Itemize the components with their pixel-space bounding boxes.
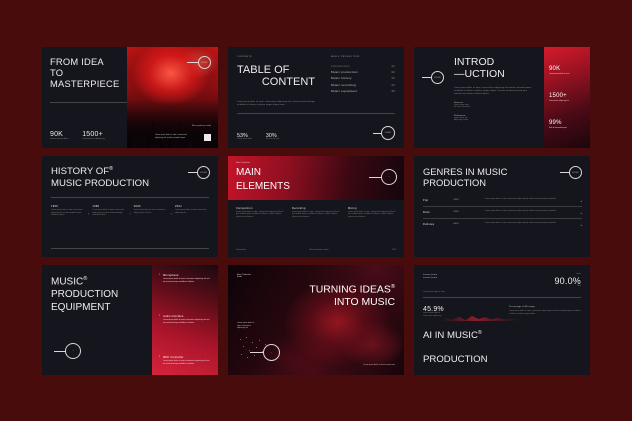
eyebrow: Music Production: [236, 163, 396, 165]
eyebrow-left: Contents: [237, 56, 315, 58]
photo-caption-box: Lorem ipsum dolor sit amet, consectetur …: [152, 131, 214, 144]
equipment-item[interactable]: 1 Microphone Lorem ipsum dolor sit amet …: [159, 274, 211, 284]
stat-caption: Consectetur adipiscing: [82, 138, 104, 141]
title-text: MUSIC: [51, 276, 83, 287]
slide1-title-line2: TO MASTERPIECE: [50, 67, 127, 89]
stat-value: 90K: [50, 131, 68, 138]
slide-table-of-content[interactable]: Contents TABLE OF CONTENT Music producti…: [228, 47, 404, 148]
element-column: Mixing Lorem ipsum dolor sit amet, conse…: [348, 207, 396, 250]
panel-stat: 1500+ Consectetur adipiscing elit: [549, 93, 585, 103]
body-line: adipiscing elit: [237, 328, 395, 330]
slide2-title-line1: TABLE OF: [237, 64, 315, 76]
slide2-bottom: 53% Lorem ipsum dolor 30% Sit amet elit …: [237, 126, 395, 141]
title-text: HISTORY OF: [51, 166, 109, 177]
stat-value: 1500+: [82, 131, 104, 138]
slide3-text-column: INTROD —UCTION Lorem ipsum dolor sit ame…: [452, 57, 538, 140]
logo-mark[interactable]: LOGO: [422, 71, 452, 84]
slide2-title-line2: CONTENT: [237, 76, 315, 88]
genre-row[interactable]: Pop +35% Lorem ipsum dolor sit amet cons…: [423, 195, 582, 207]
stat-item: 53% Lorem ipsum dolor: [237, 133, 252, 141]
stat-caption: Lorem ipsum dolor sit amet: [549, 73, 585, 76]
logo-circle: LOGO: [197, 166, 210, 179]
sub-item: Sit amet consectetur: [454, 107, 538, 109]
slide-ai-in-music-production[interactable]: Lorem ipsum Lorem ipsum Lorem 90.0% Tota…: [414, 265, 590, 375]
column-text: Lorem ipsum dolor sit amet, consectetur …: [236, 212, 284, 219]
genre-rows: Pop +35% Lorem ipsum dolor sit amet cons…: [423, 195, 582, 230]
genre-text: Lorem ipsum dolor sit amet consectetur a…: [485, 199, 572, 201]
toc-number: 03: [392, 77, 395, 80]
item-number: 2: [159, 315, 160, 325]
slide2-stats: 53% Lorem ipsum dolor 30% Sit amet elit …: [237, 133, 279, 141]
slide9-top-row: Lorem ipsum Lorem ipsum Lorem 90.0% Tota…: [423, 274, 581, 289]
slide8-content: Music Production Studio TURNING IDEAS® I…: [228, 265, 404, 375]
slide3-subsection-2: Reference Lorem ipsum elit Adipiscing se…: [454, 115, 538, 123]
left-line: Lorem ipsum: [423, 277, 437, 280]
registered-mark: ®: [83, 276, 87, 282]
slide1-title-line1: FROM IDEA: [50, 56, 127, 67]
equipment-item[interactable]: 3 MIDI Controller Lorem ipsum dolor sit …: [159, 356, 211, 366]
caption-line-2: adipiscing elit sed do eiusmod tempor: [155, 138, 187, 140]
expand-plus-icon[interactable]: +: [572, 223, 582, 227]
slide5-header: Music Production MAIN ELEMENTS →: [228, 156, 404, 200]
stat-caption: Lorem ipsum dolor: [237, 139, 252, 141]
toc-label: Music production: [331, 70, 358, 74]
slide7-title-line3: EQUIPMENT: [51, 302, 143, 315]
toc-number: 01: [392, 65, 395, 68]
element-column: Recording Lorem ipsum dolor sit amet, co…: [292, 207, 340, 250]
column-header: Mixing: [348, 207, 396, 210]
equipment-list-panel: 1 Microphone Lorem ipsum dolor sit amet …: [152, 265, 218, 375]
arrow-right-icon: →: [263, 344, 280, 361]
toc-label: Music recording: [331, 83, 356, 87]
slide9-left-labels: Lorem ipsum Lorem ipsum: [423, 274, 437, 280]
column-header: Recording: [292, 207, 340, 210]
equipment-item[interactable]: 2 Audio Interface Lorem ipsum dolor sit …: [159, 315, 211, 325]
big-value: 90.0%: [554, 276, 581, 286]
logo-line: [250, 352, 264, 353]
slide-music-production-equipment[interactable]: MUSIC® PRODUCTION EQUIPMENT → 1 Micropho…: [42, 265, 218, 375]
genre-percent: +60%: [453, 223, 485, 225]
title-text: TURNING IDEAS: [309, 284, 390, 295]
left-sub: Lorem ipsum dolor sit amet: [423, 292, 581, 294]
eyebrow-line-2: Studio: [237, 277, 395, 279]
chevron-right-icon: ›: [88, 211, 89, 216]
slide-history-of-music-production[interactable]: LOGO HISTORY OF® MUSIC PRODUCTION 1950 L…: [42, 156, 218, 257]
eyebrow-right: Music production: [331, 56, 395, 58]
slide1-left-column: FROM IDEA TO MASTERPIECE 90K Lorem ipsum…: [42, 47, 134, 148]
timeline-item: 2000 Lorem ipsum dolor sit amet consecte…: [134, 205, 168, 215]
toc-number: 05: [392, 90, 395, 93]
slide3-title-line2: —UCTION: [454, 69, 538, 81]
white-square-accent: [204, 134, 211, 141]
second-stat: 45.9% Lorem ipsum dolor sit Consectetur …: [423, 306, 444, 318]
timeline-year: 2021: [175, 205, 209, 208]
timeline-year: 2000: [134, 205, 168, 208]
timeline-text: Lorem ipsum dolor sit amet consectetur a…: [51, 210, 85, 217]
genre-name: Dubstep: [423, 223, 453, 226]
divider: [51, 248, 209, 249]
logo-mark[interactable]: LOGO: [373, 126, 395, 140]
slide-deck-grid: LOGO FROM IDEA TO MASTERPIECE 90K Lorem …: [42, 47, 590, 375]
column-text: Lorem ipsum dolor sit amet, consectetur …: [348, 212, 396, 219]
slide9-title-line2: PRODUCTION: [423, 354, 581, 366]
logo-circle: LOGO: [381, 126, 395, 140]
footer-right: 2021: [392, 250, 396, 252]
stat-value: 1500+: [549, 93, 585, 99]
logo-circle: LOGO: [431, 71, 444, 84]
toc-number: 02: [392, 71, 395, 74]
big-caption: Total: [554, 286, 581, 288]
registered-mark: ®: [478, 330, 482, 336]
toc-item[interactable]: Music equipment 05: [331, 88, 395, 94]
slide-from-idea-to-masterpiece[interactable]: LOGO FROM IDEA TO MASTERPIECE 90K Lorem …: [42, 47, 218, 148]
item-body: Audio Interface Lorem ipsum dolor sit am…: [163, 315, 211, 325]
slide-turning-ideas-into-music[interactable]: Music Production Studio TURNING IDEAS® I…: [228, 265, 404, 375]
panel-stat: 99% Sed do eiusmod tempor: [549, 120, 585, 130]
stat-caption: Sit amet elit sed: [266, 139, 279, 141]
slide5-footer: Presentation Music production studio 202…: [228, 250, 404, 257]
timeline-item: 1950 Lorem ipsum dolor sit amet consecte…: [51, 205, 85, 217]
expand-plus-icon[interactable]: +: [572, 199, 582, 203]
stat-item: 90K Lorem ipsum dolor: [50, 131, 68, 141]
slide-main-elements[interactable]: Music Production MAIN ELEMENTS → Composi…: [228, 156, 404, 257]
item-text: Lorem ipsum dolor sit amet consectetur a…: [163, 319, 211, 325]
slide6-title-line1: GENRES IN MUSIC: [423, 166, 582, 177]
stat-item: 30% Sit amet elit sed: [266, 133, 279, 141]
slide2-left-column: Contents TABLE OF CONTENT: [237, 56, 315, 94]
footer-center: Music production studio: [310, 250, 329, 252]
slide3-subsection-1: Sources Lorem ipsum dolor Sit amet conse…: [454, 102, 538, 110]
timeline-item: 2021 Lorem ipsum dolor sit amet consecte…: [175, 205, 209, 215]
slide9-middle-row: 45.9% Lorem ipsum dolor sit Consectetur …: [423, 306, 581, 318]
divider: [51, 197, 209, 198]
slide1-stats: 90K Lorem ipsum dolor 1500+ Consectetur …: [50, 131, 127, 141]
column-text: Lorem ipsum dolor sit amet, consectetur …: [292, 212, 340, 219]
item-title: Microphone: [163, 274, 211, 277]
item-title: Audio Interface: [163, 315, 211, 318]
toc-number: 04: [392, 84, 395, 87]
element-column: Composition Lorem ipsum dolor sit amet, …: [236, 207, 284, 250]
timeline: 1950 Lorem ipsum dolor sit amet consecte…: [51, 205, 209, 217]
slide5-columns: Composition Lorem ipsum dolor sit amet, …: [228, 200, 404, 250]
genre-name: Pop: [423, 199, 453, 202]
arrow-right-icon: →: [65, 343, 81, 359]
genre-text: Lorem ipsum dolor sit amet consectetur a…: [485, 211, 572, 213]
genre-name: Rock: [423, 211, 453, 214]
timeline-text: Lorem ipsum dolor sit amet consectetur a…: [175, 210, 209, 215]
item-number: 1: [159, 274, 160, 284]
stat-caption: Consectetur adipiscing elit: [549, 100, 585, 103]
slide8-footer: Lorem ipsum dolor sit amet consectetur: [363, 365, 395, 367]
title-text: AI IN MUSIC: [423, 330, 478, 341]
registered-mark: ®: [109, 166, 113, 172]
chevron-right-icon: ›: [129, 211, 130, 216]
slide9-big-stat: Lorem 90.0% Total: [554, 274, 581, 289]
arrow-right-icon: →: [381, 169, 397, 185]
slide3-stats-panel: 90K Lorem ipsum dolor sit amet 1500+ Con…: [544, 47, 590, 148]
slide3-title-line2-text: UCTION: [465, 68, 505, 80]
slide-genres-in-music-production[interactable]: LOGO GENRES IN MUSIC PRODUCTION Pop +35%…: [414, 156, 590, 257]
slide-introduction[interactable]: LOGO INTROD —UCTION Lorem ipsum dolor si…: [414, 47, 590, 148]
item-text: Lorem ipsum dolor sit amet consectetur a…: [163, 360, 211, 366]
expand-plus-icon[interactable]: +: [572, 211, 582, 215]
timeline-text: Lorem ipsum dolor sit amet consectetur a…: [134, 210, 168, 215]
toc-label: Music equipment: [331, 89, 357, 93]
timeline-year: 1950: [51, 205, 85, 208]
slide9-title-line1: AI IN MUSIC®: [423, 330, 581, 342]
slide9-right-text-block: Percentage of AI usage Lorem ipsum dolor…: [509, 306, 581, 316]
footer-left: Presentation: [236, 250, 246, 252]
item-text: Lorem ipsum dolor sit amet consectetur a…: [163, 278, 211, 284]
logo-circle: LOGO: [198, 56, 211, 69]
divider: [423, 297, 581, 298]
genre-row[interactable]: Rock +28% Lorem ipsum dolor sit amet con…: [423, 207, 582, 219]
item-number: 3: [159, 356, 160, 366]
caption-text: Lorem ipsum dolor sit amet, consectetur …: [155, 135, 187, 140]
genre-row[interactable]: Dubstep +60% Lorem ipsum dolor sit amet …: [423, 219, 582, 230]
timeline-year: 1980: [92, 205, 126, 208]
slide7-title-line1: MUSIC®: [51, 276, 143, 289]
panel-stat: 90K Lorem ipsum dolor sit amet: [549, 66, 585, 76]
stat-value: 99%: [549, 120, 585, 126]
slide3-mark-column: LOGO: [422, 57, 452, 140]
logo-mark-arrow[interactable]: →: [54, 343, 81, 359]
item-body: Microphone Lorem ipsum dolor sit amet co…: [163, 274, 211, 284]
logo-circle: LOGO: [569, 166, 582, 179]
slide3-body: LOGO INTROD —UCTION Lorem ipsum dolor si…: [414, 47, 544, 148]
slide2-top: Contents TABLE OF CONTENT Music producti…: [237, 56, 395, 94]
logo-mark[interactable]: LOGO: [560, 166, 582, 179]
slide8-title-line2: INTO MUSIC: [237, 297, 395, 309]
slide8-body: Lorem ipsum dolor sit amet consectetur a…: [237, 323, 395, 330]
photo-credit: Music production studio: [192, 126, 211, 128]
sub-item: Adipiscing sed do: [454, 120, 538, 122]
logo-mark-arrow[interactable]: →: [250, 344, 280, 361]
toc-label: Music history: [331, 76, 352, 80]
slide2-description: Lorem ipsum dolor sit amet, consectetur …: [237, 101, 319, 107]
divider: [237, 113, 395, 114]
timeline-text: Lorem ipsum dolor sit amet consectetur a…: [92, 210, 126, 217]
slide4-title-line1: HISTORY OF®: [51, 166, 209, 178]
slide6-title-line2: PRODUCTION: [423, 177, 582, 188]
item-title: MIDI Controller: [163, 356, 211, 359]
chevron-right-icon: ›: [171, 211, 172, 216]
stat-item: 1500+ Consectetur adipiscing: [82, 131, 104, 141]
timeline-item: 1980 Lorem ipsum dolor sit amet consecte…: [92, 205, 126, 217]
logo-mark-arrow[interactable]: →: [369, 169, 397, 185]
right-text: Lorem ipsum dolor sit amet, consectetur …: [509, 311, 581, 316]
toc-list: Music production Introduction 01 Music p…: [331, 56, 395, 94]
registered-mark: ®: [391, 284, 395, 290]
slide7-left: MUSIC® PRODUCTION EQUIPMENT →: [42, 265, 152, 375]
column-header: Composition: [236, 207, 284, 210]
slide7-title-line2: PRODUCTION: [51, 289, 143, 302]
slide8-title-line1: TURNING IDEAS®: [237, 284, 395, 297]
item-body: MIDI Controller Lorem ipsum dolor sit am…: [163, 356, 211, 366]
logo-mark[interactable]: LOGO: [188, 166, 210, 179]
slide4-title-line2: MUSIC PRODUCTION: [51, 178, 209, 190]
stat-caption: Sed do eiusmod tempor: [549, 127, 585, 130]
logo-mark[interactable]: LOGO: [187, 56, 211, 69]
genre-percent: +35%: [453, 199, 485, 201]
genre-percent: +28%: [453, 211, 485, 213]
stat-value: 90K: [549, 66, 585, 72]
divider: [50, 102, 127, 103]
genre-text: Lorem ipsum dolor sit amet consectetur a…: [485, 223, 572, 225]
second-caption-2: Consectetur adipiscing: [423, 316, 444, 318]
right-header: Percentage of AI usage: [509, 306, 581, 309]
slide3-body-text: Lorem ipsum dolor sit amet, consectetur …: [454, 87, 534, 96]
toc-label: Introduction: [331, 64, 350, 68]
stat-caption: Lorem ipsum dolor: [50, 138, 68, 141]
